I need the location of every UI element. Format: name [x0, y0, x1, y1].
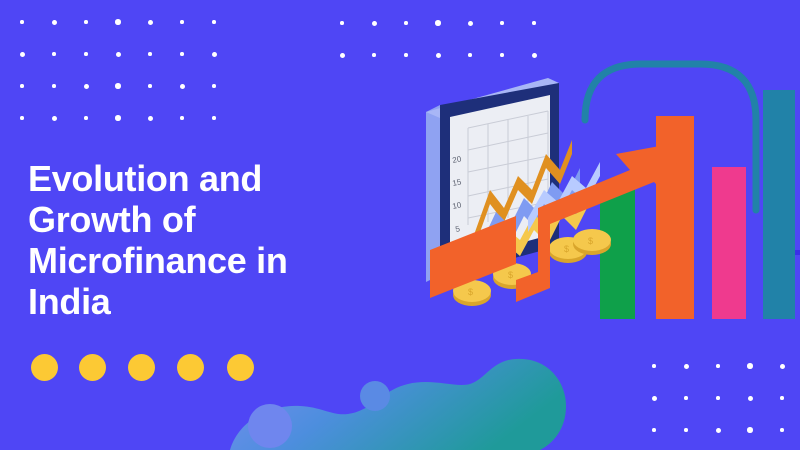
gold-dot [128, 354, 155, 381]
decor-dot [404, 21, 408, 25]
decor-dot [20, 52, 25, 57]
decor-dot [180, 84, 185, 89]
decor-dot [212, 52, 217, 57]
decor-dot [404, 53, 408, 57]
decor-dot [115, 19, 121, 25]
decor-dot [115, 83, 121, 89]
decor-dot [20, 20, 24, 24]
decor-dot [180, 20, 184, 24]
decor-dot [84, 52, 88, 56]
decor-dot [180, 116, 184, 120]
decor-dot [52, 84, 56, 88]
gold-dot [227, 354, 254, 381]
decor-dot [212, 20, 216, 24]
decor-dot [148, 84, 152, 88]
decor-dot [532, 21, 536, 25]
bar-green [600, 187, 635, 319]
bar-group [600, 90, 795, 319]
decor-dot [212, 116, 216, 120]
decor-dot [212, 84, 216, 88]
decor-dot [180, 52, 184, 56]
svg-text:$: $ [468, 287, 473, 297]
gold-dot [177, 354, 204, 381]
decor-dot [340, 21, 344, 25]
decor-dot [372, 21, 377, 26]
decor-dot [148, 20, 153, 25]
decor-dot [115, 115, 121, 121]
decor-dot [52, 20, 57, 25]
decor-dot [116, 52, 121, 57]
svg-text:$: $ [564, 244, 569, 254]
svg-text:$: $ [508, 270, 513, 280]
decor-dot [500, 21, 504, 25]
svg-text:$: $ [588, 236, 593, 246]
decor-dot [84, 116, 88, 120]
decor-dot [52, 52, 56, 56]
decor-dot [372, 53, 376, 57]
coin: $ [573, 229, 611, 255]
page-title: Evolution and Growth of Microfinance in … [28, 158, 418, 322]
decor-dot [148, 116, 153, 121]
finance-growth-illustration: 20 15 10 5 $ [420, 50, 800, 320]
decor-dot [148, 52, 152, 56]
title-block: Evolution and Growth of Microfinance in … [28, 158, 418, 322]
bar-teal [763, 90, 795, 319]
gold-dot [31, 354, 58, 381]
decor-dot [20, 116, 24, 120]
decor-dot [84, 84, 89, 89]
decor-dot [468, 21, 473, 26]
decor-dot [435, 20, 441, 26]
slide-canvas: 20 15 10 5 $ [0, 0, 800, 450]
bar-pink [712, 167, 746, 319]
decor-dot [52, 116, 57, 121]
decor-dot [84, 20, 88, 24]
decor-dot [20, 84, 24, 88]
decor-dot [340, 53, 345, 58]
decorative-blob [0, 330, 800, 450]
gold-dot [79, 354, 106, 381]
